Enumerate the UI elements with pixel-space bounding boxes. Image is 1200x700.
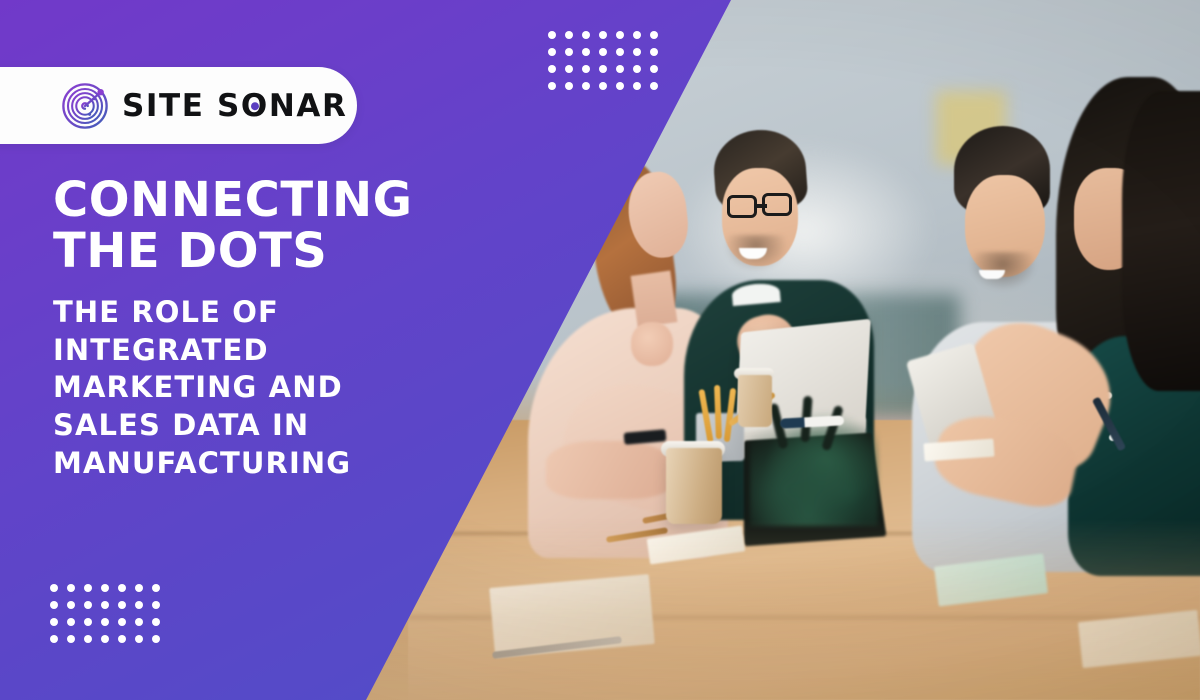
- logo-text-part-1: SITE S: [122, 88, 241, 124]
- decorative-dot: [633, 82, 641, 90]
- decorative-dot: [548, 48, 556, 56]
- blog-header-banner: SITE SONAR CONNECTING THE DOTS THE ROLE …: [0, 0, 1200, 700]
- decorative-dot: [84, 601, 92, 609]
- decorative-dot: [118, 584, 126, 592]
- page-title: CONNECTING THE DOTS: [53, 175, 523, 277]
- decorative-dot: [565, 48, 573, 56]
- logo-text-part-3: NAR: [269, 88, 348, 124]
- decorative-dot: [84, 635, 92, 643]
- subheadline-line-4: SALES DATA IN: [53, 407, 453, 445]
- decorative-dot: [118, 601, 126, 609]
- decorative-dot: [84, 584, 92, 592]
- decorative-dot: [101, 618, 109, 626]
- page-subtitle: THE ROLE OF INTEGRATED MARKETING AND SAL…: [53, 294, 453, 482]
- decorative-dot: [101, 635, 109, 643]
- decorative-dot: [101, 601, 109, 609]
- decorative-dot: [101, 584, 109, 592]
- decorative-dot: [650, 82, 658, 90]
- decorative-dot: [616, 48, 624, 56]
- decorative-dot: [616, 82, 624, 90]
- decorative-dot: [50, 635, 58, 643]
- subheadline-line-1: THE ROLE OF: [53, 294, 453, 332]
- decorative-dot: [650, 65, 658, 73]
- decorative-dot: [548, 31, 556, 39]
- decorative-dot: [548, 65, 556, 73]
- decorative-dot: [67, 635, 75, 643]
- decorative-dot: [84, 618, 92, 626]
- decorative-dot: [67, 618, 75, 626]
- decorative-dot: [50, 618, 58, 626]
- decorative-dot: [118, 635, 126, 643]
- decorative-dot: [67, 601, 75, 609]
- decorative-dot: [599, 65, 607, 73]
- decorative-dot: [582, 31, 590, 39]
- decorative-dot: [599, 48, 607, 56]
- decorative-dot: [565, 82, 573, 90]
- decorative-dot: [650, 48, 658, 56]
- dot-grid-bottom: [50, 584, 169, 652]
- decorative-dot: [152, 584, 160, 592]
- decorative-dot: [582, 48, 590, 56]
- decorative-dot: [50, 584, 58, 592]
- decorative-dot: [135, 601, 143, 609]
- decorative-dot: [152, 618, 160, 626]
- decorative-dot: [152, 601, 160, 609]
- decorative-dot: [616, 65, 624, 73]
- decorative-dot: [565, 31, 573, 39]
- headline-line-1: CONNECTING: [53, 175, 523, 226]
- decorative-dot: [650, 31, 658, 39]
- decorative-dot: [135, 635, 143, 643]
- headline-line-2: THE DOTS: [53, 226, 523, 277]
- decorative-dot: [67, 584, 75, 592]
- decorative-dot: [633, 31, 641, 39]
- decorative-dot: [616, 31, 624, 39]
- decorative-dot: [599, 82, 607, 90]
- sonar-radar-icon: [62, 83, 108, 129]
- decorative-dot: [582, 82, 590, 90]
- decorative-dot: [135, 618, 143, 626]
- decorative-dot: [633, 48, 641, 56]
- logo-wordmark: SITE SONAR: [122, 88, 347, 124]
- decorative-dot: [118, 618, 126, 626]
- dot-grid-top: [548, 31, 667, 99]
- decorative-dot: [582, 65, 590, 73]
- decorative-dot: [50, 601, 58, 609]
- subheadline-line-5: MANUFACTURING: [53, 445, 453, 483]
- logo-pill[interactable]: SITE SONAR: [0, 67, 357, 144]
- decorative-dot: [565, 65, 573, 73]
- decorative-dot: [152, 635, 160, 643]
- subheadline-line-2: INTEGRATED: [53, 332, 453, 370]
- decorative-dot: [633, 65, 641, 73]
- decorative-dot: [599, 31, 607, 39]
- decorative-dot: [548, 82, 556, 90]
- subheadline-line-3: MARKETING AND: [53, 369, 453, 407]
- logo-text-letter-o: O: [241, 88, 269, 124]
- decorative-dot: [135, 584, 143, 592]
